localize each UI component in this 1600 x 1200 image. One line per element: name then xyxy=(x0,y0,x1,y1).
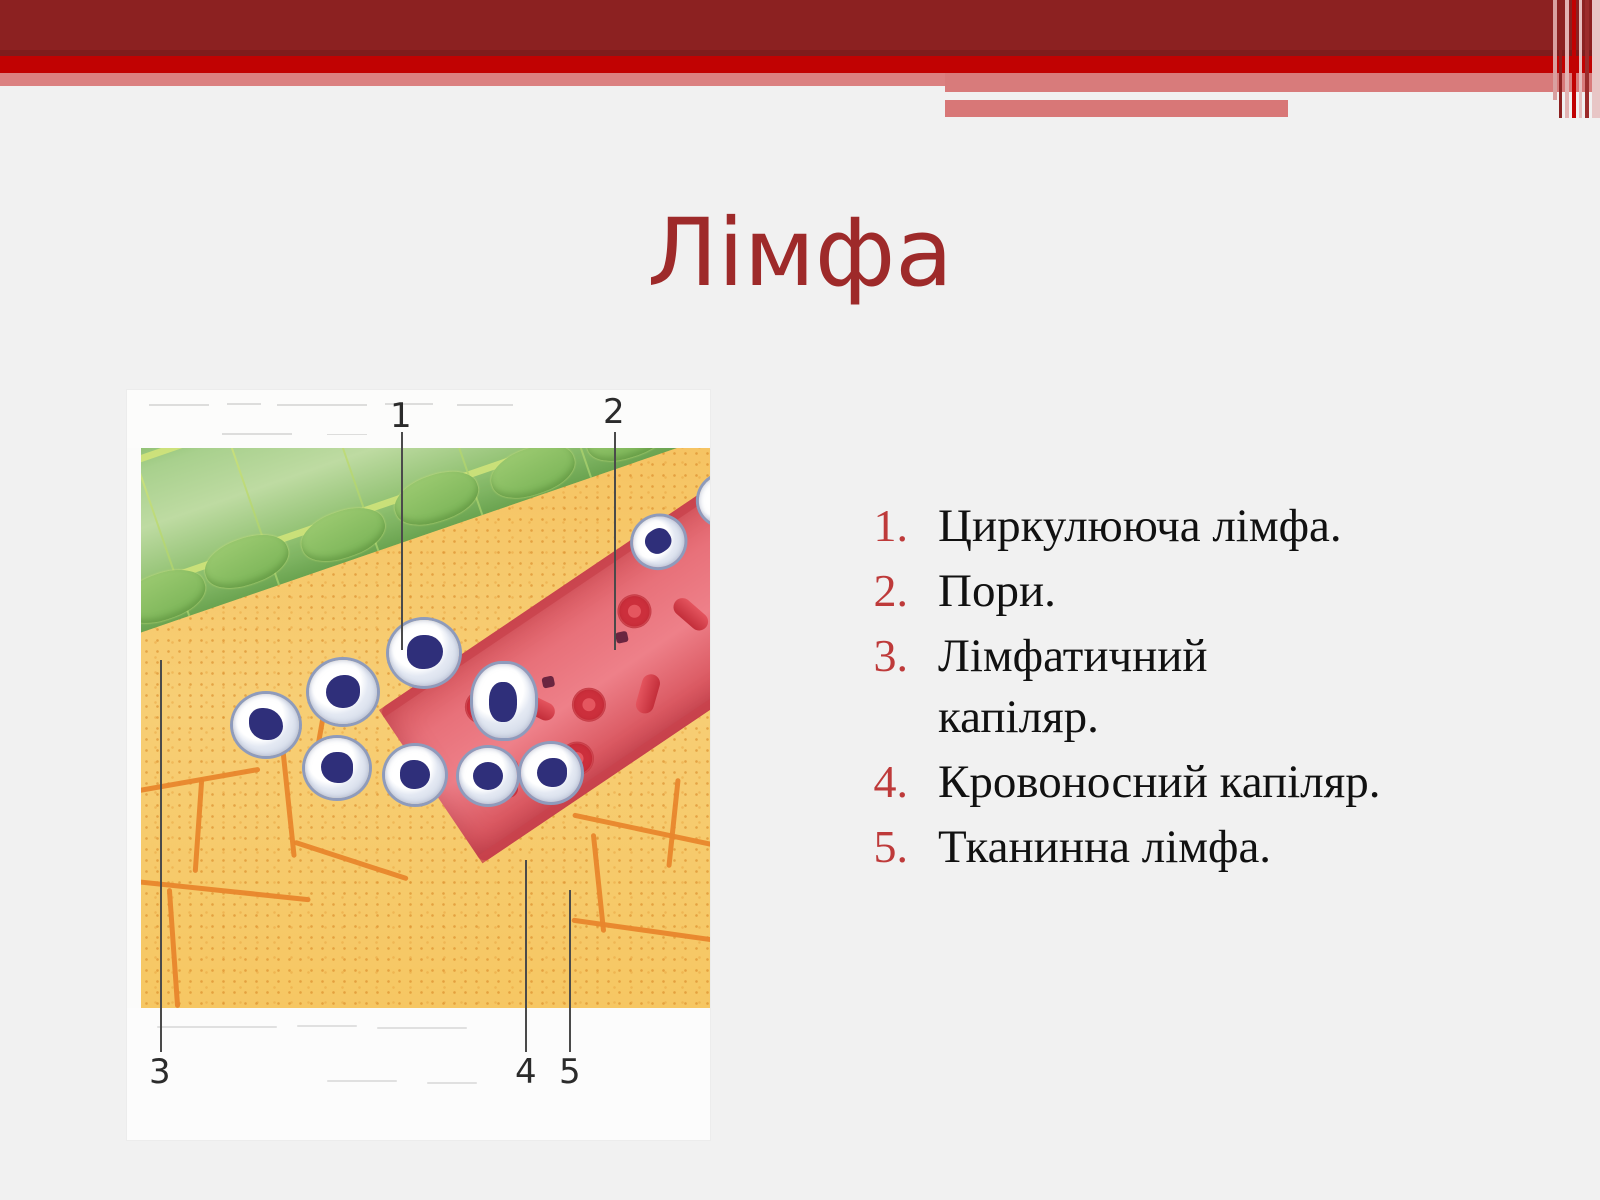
callout-number-2: 2 xyxy=(603,392,625,432)
callout-leader-5 xyxy=(569,890,571,1052)
list-item-number: 4. xyxy=(850,752,908,812)
leukocyte-nucleus xyxy=(706,481,710,517)
scan-artifact xyxy=(157,1026,277,1028)
list-item: 1. Циркулююча лімфа. xyxy=(850,496,1550,557)
header-gap-white-1 xyxy=(945,92,1490,100)
lymphocyte-nucleus xyxy=(249,708,283,740)
leukocyte-nucleus xyxy=(473,762,503,790)
scan-artifact xyxy=(222,433,292,435)
list-item-label: Циркулююча лімфа. xyxy=(938,496,1342,557)
list-item: 2. Пори. xyxy=(850,561,1550,622)
lymphocyte xyxy=(305,738,369,798)
platelet xyxy=(541,675,555,688)
list-item-label: Тканинна лімфа. xyxy=(938,817,1271,878)
lymphocyte xyxy=(233,694,299,756)
scan-artifact xyxy=(327,434,367,435)
scan-artifact xyxy=(327,1080,397,1082)
lymphocyte-nucleus xyxy=(400,760,430,789)
lymphocyte-nucleus xyxy=(407,635,443,669)
scan-artifact xyxy=(297,1025,357,1027)
slide-header-decoration xyxy=(0,0,1600,130)
callout-leader-2 xyxy=(614,432,616,650)
list-item-number: 1. xyxy=(850,496,908,556)
lymphocyte-nucleus xyxy=(321,752,353,783)
header-pink-band-right-1 xyxy=(945,73,1600,92)
header-gap-white-2 xyxy=(1288,100,1600,117)
list-item-number: 5. xyxy=(850,817,908,877)
scan-artifact xyxy=(457,404,513,406)
list-item: 4. Кровоносний капіляр. xyxy=(850,752,1550,813)
header-pink-band-left xyxy=(0,73,945,86)
header-vertical-stripe-2 xyxy=(1559,0,1562,118)
erythrocyte xyxy=(565,681,612,728)
callout-leader-3 xyxy=(160,660,162,1052)
scan-artifact xyxy=(377,1027,467,1029)
lymphocyte xyxy=(385,746,445,804)
lymphocyte-nucleus xyxy=(489,682,517,722)
slide: Лімфа xyxy=(0,0,1600,1200)
erythrocyte-edge-view xyxy=(634,672,662,715)
leukocyte-nucleus xyxy=(641,524,676,558)
scan-artifact xyxy=(427,1082,477,1084)
lymph-illustration xyxy=(141,448,710,1008)
lymphocyte-migrating xyxy=(473,664,535,738)
callout-number-3: 3 xyxy=(149,1052,171,1092)
header-vertical-stripe-5 xyxy=(1579,0,1582,118)
list-item-label: Пори. xyxy=(938,561,1056,622)
leukocyte-in-tissue xyxy=(459,748,517,804)
list-item-number: 3. xyxy=(850,626,908,686)
header-vertical-stripe-1 xyxy=(1553,0,1557,100)
callout-leader-1 xyxy=(401,432,403,650)
lymphocyte xyxy=(309,660,377,724)
header-vertical-stripe-4 xyxy=(1572,0,1576,118)
leukocyte-nucleus xyxy=(537,758,567,787)
lymphocyte-nucleus xyxy=(326,675,360,708)
callout-leader-4 xyxy=(525,860,527,1052)
callout-number-1: 1 xyxy=(390,396,412,436)
lymphocyte xyxy=(389,620,459,686)
list-item-label: Кровоносний капіляр. xyxy=(938,752,1381,813)
callout-number-5: 5 xyxy=(559,1052,581,1092)
platelet xyxy=(615,631,629,644)
callout-number-4: 4 xyxy=(515,1052,537,1092)
erythrocyte-edge-view xyxy=(670,594,710,634)
slide-title: Лімфа xyxy=(0,205,1600,304)
header-vertical-stripe-6 xyxy=(1585,0,1589,118)
scan-artifact xyxy=(277,404,367,406)
erythrocyte xyxy=(611,588,658,635)
header-vertical-stripe-7 xyxy=(1592,0,1600,118)
list-item-label: Лімфатичний капіляр. xyxy=(938,626,1288,748)
leukocyte-in-tissue xyxy=(521,744,581,802)
list-item: 5. Тканинна лімфа. xyxy=(850,817,1550,878)
header-bright-band xyxy=(0,56,1600,73)
lymph-definition-list: 1. Циркулююча лімфа. 2. Пори. 3. Лімфати… xyxy=(850,496,1550,883)
header-vertical-stripe-3 xyxy=(1565,0,1569,118)
scan-artifact xyxy=(149,404,209,406)
lymph-diagram-figure: 1 2 3 4 5 xyxy=(127,390,710,1140)
list-item-number: 2. xyxy=(850,561,908,621)
list-item: 3. Лімфатичний капіляр. xyxy=(850,626,1550,748)
header-dark-band xyxy=(0,0,1600,55)
scan-artifact xyxy=(227,403,261,405)
